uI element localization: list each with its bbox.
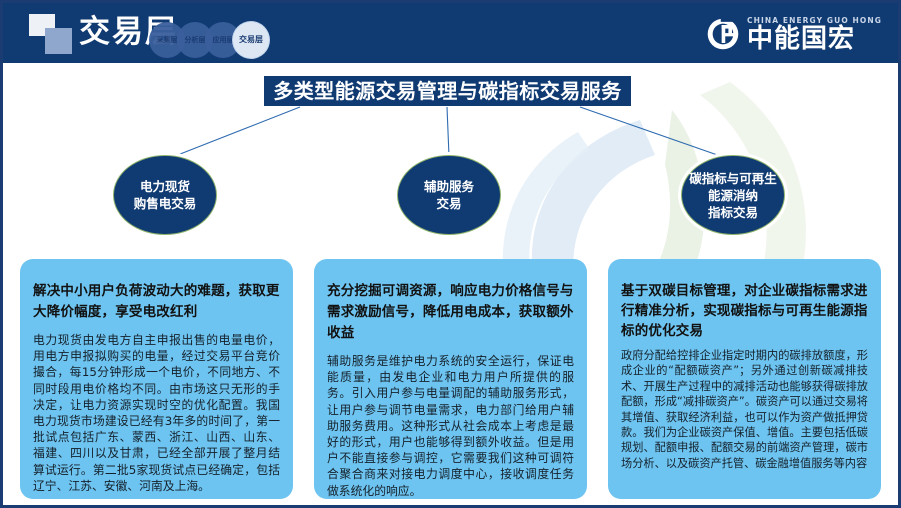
card-1-body: 电力现货由发电方自主申报出售的电量电价，用电方申报拟购买的电量，经过交易平台竞价…	[33, 332, 280, 494]
node-3-line-2: 能源消纳	[685, 187, 781, 204]
node-ancillary-service-trading[interactable]: 辅助服务 交易	[397, 155, 501, 235]
card-2-heading: 充分挖掘可调资源，响应电力价格信号与需求激励信号，降低用电成本，获取额外收益	[327, 281, 574, 344]
card-3-heading: 基于双碳目标管理，对企业碳指标需求进行精准分析，实现碳指标与可再生能源指标的优化…	[621, 281, 868, 341]
card-ancillary-service-trading: 充分挖掘可调资源，响应电力价格信号与需求激励信号，降低用电成本，获取额外收益 辅…	[314, 259, 587, 499]
card-2-body: 辅助服务是维护电力系统的安全运行，保证电能质量，由发电企业和电力用户所提供的服务…	[327, 353, 574, 499]
card-3-body: 政府分配给控排企业指定时期内的碳排放额度，形成企业的“配额碳资产”；另外通过创新…	[621, 348, 868, 471]
card-carbon-index-trading: 基于双碳目标管理，对企业碳指标需求进行精准分析，实现碳指标与可再生能源指标的优化…	[608, 259, 881, 499]
card-1-heading: 解决中小用户负荷波动大的难题，获取更大降价幅度，享受电改红利	[33, 281, 280, 323]
node-spot-power-trading[interactable]: 电力现货 购售电交易	[113, 155, 217, 235]
node-1-line-2: 购售电交易	[130, 195, 201, 212]
node-2-line-1: 辅助服务	[420, 178, 478, 195]
node-carbon-renewable-index-trading[interactable]: 碳指标与可再生 能源消纳 指标交易	[681, 155, 785, 235]
card-spot-power-trading: 解决中小用户负荷波动大的难题，获取更大降价幅度，享受电改红利 电力现货由发电方自…	[20, 259, 293, 499]
node-3-line-1: 碳指标与可再生	[685, 170, 781, 187]
main-title-banner: 多类型能源交易管理与碳指标交易服务	[264, 76, 631, 106]
node-2-line-2: 交易	[420, 195, 478, 212]
node-1-line-1: 电力现货	[130, 178, 201, 195]
slide-canvas: 交易层 采集层 分析层 应用层 交易层 CHINA ENERGY GUO HON…	[0, 0, 901, 508]
node-3-line-3: 指标交易	[685, 204, 781, 221]
